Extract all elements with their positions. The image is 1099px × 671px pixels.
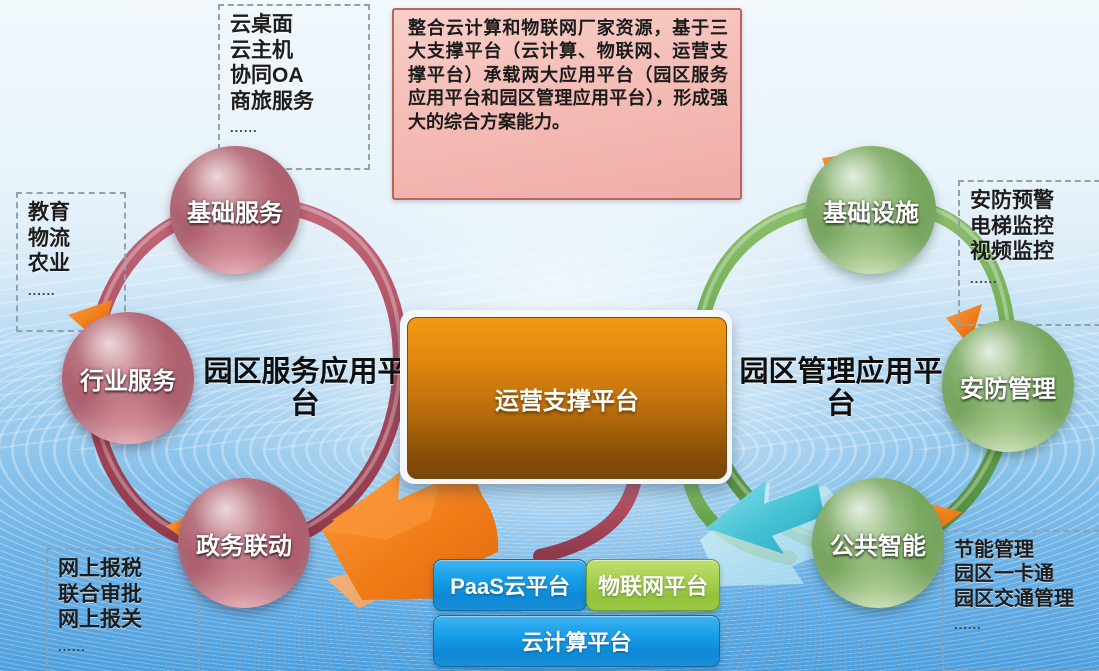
info-line: 协同OA bbox=[230, 63, 358, 89]
node-basic-service[interactable]: 基础服务 bbox=[170, 146, 300, 274]
info-ellipsis: ...... bbox=[970, 271, 1098, 287]
info-line: 园区交通管理 bbox=[954, 587, 1099, 611]
node-industry-service[interactable]: 行业服务 bbox=[62, 312, 194, 444]
left-platform-title-text: 园区服务应用平台 bbox=[203, 356, 406, 420]
info-line: 商旅服务 bbox=[230, 89, 358, 115]
bar-cloud-computing-platform[interactable]: 云计算平台 bbox=[433, 615, 720, 667]
node-label: 公共智能 bbox=[830, 526, 926, 561]
operation-support-platform-box[interactable]: 运营支撑平台 bbox=[400, 310, 732, 484]
node-security-management[interactable]: 安防管理 bbox=[942, 320, 1074, 452]
infrastructure-items-box: 安防预警 电梯监控 视频监控 ...... bbox=[958, 180, 1099, 326]
summary-callout: 整合云计算和物联网厂家资源，基于三大支撑平台（云计算、物联网、运营支撑平台）承载… bbox=[392, 8, 742, 200]
node-public-intelligence[interactable]: 公共智能 bbox=[812, 478, 944, 608]
operation-support-platform-inner: 运营支撑平台 bbox=[407, 317, 727, 479]
bar-label: 物联网平台 bbox=[598, 569, 708, 601]
info-line: 云桌面 bbox=[230, 12, 358, 38]
government-link-items-box: 网上报税 联合审批 网上报关 ...... bbox=[46, 548, 200, 671]
info-line: 网上报关 bbox=[58, 607, 188, 633]
info-line: 教育 bbox=[28, 200, 114, 226]
industry-service-items-box: 教育 物流 农业 ...... bbox=[16, 192, 126, 332]
info-line: 联合审批 bbox=[58, 582, 188, 608]
diagram-canvas: 整合云计算和物联网厂家资源，基于三大支撑平台（云计算、物联网、运营支撑平台）承载… bbox=[0, 0, 1099, 671]
node-infrastructure[interactable]: 基础设施 bbox=[806, 146, 936, 274]
info-line: 视频监控 bbox=[970, 239, 1098, 265]
bar-paas-cloud-platform[interactable]: PaaS云平台 bbox=[433, 559, 587, 611]
node-label: 基础服务 bbox=[187, 193, 283, 228]
info-line: 云主机 bbox=[230, 38, 358, 64]
public-intelligence-items-box: 节能管理 园区一卡通 园区交通管理 ...... bbox=[942, 530, 1099, 671]
bar-label: PaaS云平台 bbox=[450, 569, 570, 601]
left-platform-title: 园区服务应用平台 bbox=[200, 356, 410, 421]
info-line: 安防预警 bbox=[970, 188, 1098, 214]
node-label: 基础设施 bbox=[823, 193, 919, 228]
info-line: 网上报税 bbox=[58, 556, 188, 582]
info-line: 农业 bbox=[28, 251, 114, 277]
info-ellipsis: ...... bbox=[230, 120, 358, 136]
info-line: 电梯监控 bbox=[970, 214, 1098, 240]
right-platform-title: 园区管理应用平台 bbox=[736, 356, 946, 421]
info-line: 节能管理 bbox=[954, 538, 1099, 562]
node-label: 行业服务 bbox=[80, 361, 176, 396]
info-ellipsis: ...... bbox=[58, 639, 188, 655]
info-line: 物流 bbox=[28, 226, 114, 252]
operation-support-platform-label: 运营支撑平台 bbox=[495, 381, 639, 416]
node-label: 政务联动 bbox=[196, 526, 292, 561]
node-label: 安防管理 bbox=[960, 369, 1056, 404]
node-government-link[interactable]: 政务联动 bbox=[178, 478, 310, 608]
basic-service-items-box: 云桌面 云主机 协同OA 商旅服务 ...... bbox=[218, 4, 370, 170]
bar-iot-platform[interactable]: 物联网平台 bbox=[586, 559, 720, 611]
info-ellipsis: ...... bbox=[28, 283, 114, 299]
summary-callout-text: 整合云计算和物联网厂家资源，基于三大支撑平台（云计算、物联网、运营支撑平台）承载… bbox=[408, 18, 728, 132]
bar-label: 云计算平台 bbox=[521, 625, 631, 657]
right-platform-title-text: 园区管理应用平台 bbox=[739, 356, 942, 420]
info-line: 园区一卡通 bbox=[954, 562, 1099, 586]
info-ellipsis: ...... bbox=[954, 617, 1099, 633]
